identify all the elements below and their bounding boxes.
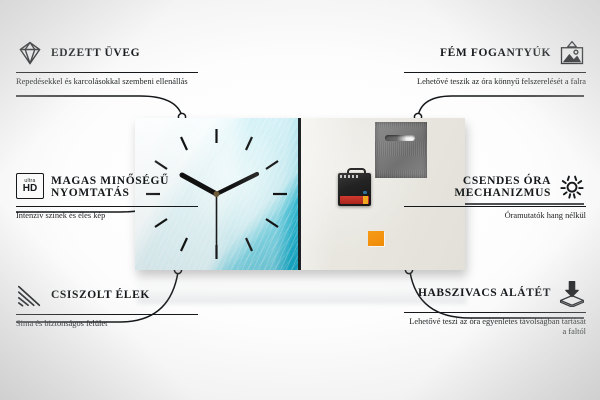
mechanism-body — [338, 173, 371, 206]
product-infographic: EDZETT ÜVEG Repedésekkel és karcolásokka… — [0, 0, 600, 400]
foam-pad-arrow-icon — [558, 279, 586, 307]
feature-polished-edges: CSISZOLT ÉLEK Sima és biztonságos felüle… — [16, 280, 198, 329]
picture-hanger-icon — [558, 39, 586, 67]
feature-title: FÉM FOGANTYÚK — [440, 47, 551, 60]
feature-divider — [16, 314, 198, 315]
feature-header: ultra HD MAGAS MINŐSÉGŰ NYOMTATÁS — [16, 172, 198, 202]
feature-divider — [404, 206, 586, 207]
feature-title: HABSZIVACS ALÁTÉT — [418, 287, 551, 300]
feature-title: EDZETT ÜVEG — [51, 47, 140, 60]
feature-metal-handles: FÉM FOGANTYÚK Lehetővé teszik az óra kön… — [404, 38, 586, 87]
diamond-icon — [16, 39, 44, 67]
feature-description: Lehetővé teszik az óra könnyű felszerelé… — [404, 77, 586, 87]
feature-divider — [16, 72, 198, 73]
feature-title: CSENDES ÓRA MECHANIZMUS — [404, 175, 551, 200]
feature-tempered-glass: EDZETT ÜVEG Repedésekkel és karcolásokka… — [16, 38, 198, 87]
feature-description: Óramutatók hang nélkül — [404, 211, 586, 221]
feature-description: Repedésekkel és karcolásokkal szembeni e… — [16, 77, 198, 87]
feature-divider — [404, 312, 586, 313]
feature-divider — [404, 72, 586, 73]
battery-terminal — [363, 196, 368, 204]
feature-header: EDZETT ÜVEG — [16, 38, 198, 68]
polished-edges-icon — [16, 281, 44, 309]
clock-mechanism — [338, 168, 371, 206]
battery — [340, 196, 369, 204]
hanger-slot — [385, 135, 415, 141]
connector-metal-handles — [418, 96, 584, 116]
feature-header: CSISZOLT ÉLEK — [16, 280, 198, 310]
foam-pad — [368, 231, 384, 246]
gear-icon — [558, 173, 586, 201]
mechanism-dot — [363, 191, 367, 194]
metal-hanger-plate — [375, 122, 427, 178]
feature-hd-print: ultra HD MAGAS MINŐSÉGŰ NYOMTATÁS Intenz… — [16, 172, 198, 221]
feature-description: Lehetővé teszi az óra egyenletes távolsá… — [404, 317, 586, 338]
feature-description: Sima és biztonságos felület — [16, 319, 198, 329]
connector-tempered-glass — [16, 96, 182, 116]
ultra-hd-icon-big-label: HD — [23, 184, 37, 194]
feature-header: HABSZIVACS ALÁTÉT — [404, 278, 586, 308]
feature-header: CSENDES ÓRA MECHANIZMUS — [404, 172, 586, 202]
mechanism-label — [340, 175, 360, 178]
ultra-hd-icon: ultra HD — [16, 173, 44, 201]
feature-title: MAGAS MINŐSÉGŰ NYOMTATÁS — [51, 175, 198, 200]
feature-description: Intenzív színek és éles kép — [16, 211, 198, 221]
feature-silent-mechanism: CSENDES ÓRA MECHANIZMUS Óramutatók hang … — [404, 172, 586, 221]
feature-title: CSISZOLT ÉLEK — [51, 289, 150, 302]
feature-foam-pad: HABSZIVACS ALÁTÉT Lehetővé teszi az óra … — [404, 278, 586, 338]
feature-divider — [16, 206, 198, 207]
feature-header: FÉM FOGANTYÚK — [404, 38, 586, 68]
metal-grain — [375, 122, 427, 178]
